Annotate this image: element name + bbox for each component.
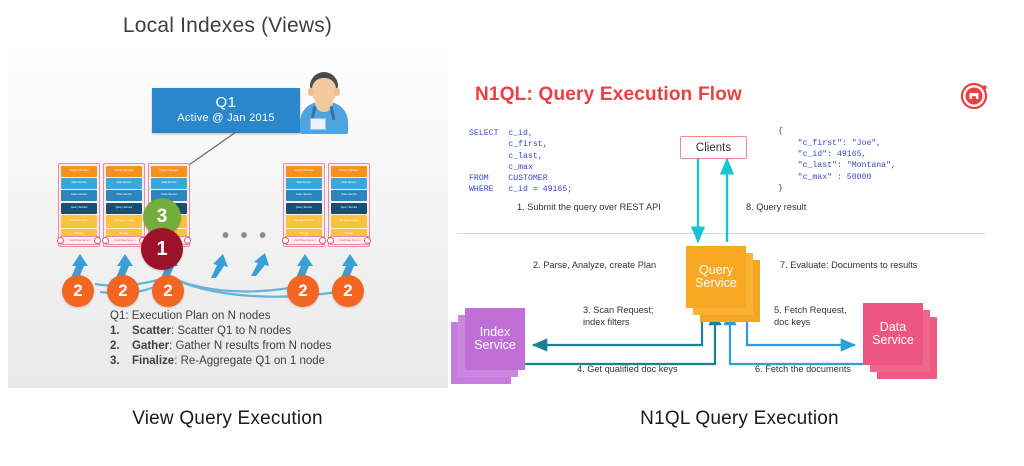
user-avatar-icon [296, 70, 352, 134]
legend-text: : Re-Aggregate Q1 on 1 node [174, 355, 325, 367]
legend-text: : Scatter Q1 to N nodes [171, 325, 291, 337]
legend-item: 1. Scatter: Scatter Q1 to N nodes [110, 324, 440, 339]
node-layer-cluster-manager: Cluster Manager [151, 166, 187, 177]
node-layer-cluster-manager: Cluster Manager [331, 166, 367, 177]
legend-term: Gather [132, 340, 169, 352]
legend-term: Scatter [132, 325, 171, 337]
index-service-box: Index Service [465, 308, 525, 370]
node-layer-cluster-manager: Cluster Manager [106, 166, 142, 177]
step-label-5: 5. Fetch Request, doc keys [774, 304, 847, 328]
n1ql-query-execution-panel: N1QL: Query Execution Flow SELECT c_id, … [455, 58, 1015, 398]
legend-number: 2. [110, 339, 132, 354]
legend-term: Finalize [132, 355, 174, 367]
query-service-label: Query Service [695, 264, 737, 290]
couchbase-logo-icon [960, 80, 990, 110]
n1ql-panel-title: N1QL: Query Execution Flow [475, 84, 742, 106]
q1-query-box: Q1 Active @ Jan 2015 [152, 88, 300, 133]
badge-gather: 2 [62, 275, 94, 307]
legend-text: : Gather N results from N nodes [169, 340, 331, 352]
step-label-7: 7. Evaluate: Documents to results [780, 259, 917, 271]
clients-label: Clients [696, 142, 731, 154]
section-divider [457, 233, 985, 234]
avatar-ear-left [308, 88, 314, 96]
data-service-label: Data Service [872, 321, 914, 347]
sql-query-code: SELECT c_id, c_first, c_last, c_max FROM… [469, 128, 572, 195]
avatar-id-badge [310, 118, 326, 130]
node-layer-cluster-manager: Cluster Manager [286, 166, 322, 177]
query-service-front: Query Service [686, 246, 746, 308]
execution-plan-legend: Q1: Execution Plan on N nodes 1. Scatter… [110, 310, 440, 369]
node-layer-cluster-manager: Cluster Manager [61, 166, 97, 177]
view-query-execution-panel: Local Indexes (Views) Q1 Active @ Jan 20… [0, 0, 455, 395]
legend-item: 2. Gather: Gather N results from N nodes [110, 339, 440, 354]
legend-number: 3. [110, 354, 132, 369]
badge-gather: 2 [107, 275, 139, 307]
step-label-2: 2. Parse, Analyze, create Plan [533, 259, 656, 271]
q1-label: Q1 [152, 94, 300, 111]
right-caption: N1QL Query Execution [455, 408, 1024, 430]
badge-gather: 2 [287, 275, 319, 307]
badge-gather: 2 [332, 275, 364, 307]
legend-item: 3. Finalize: Re-Aggregate Q1 on 1 node [110, 354, 440, 369]
step-label-6: 6. Fetch the documents [755, 363, 851, 375]
step-label-4: 4. Get qualified doc keys [577, 363, 678, 375]
legend-heading: Q1: Execution Plan on N nodes [110, 310, 440, 322]
clients-box[interactable]: Clients [680, 136, 747, 159]
index-service-label: Index Service [474, 326, 516, 352]
left-caption: View Query Execution [0, 408, 455, 430]
left-panel-title: Local Indexes (Views) [0, 14, 455, 38]
q1-status-label: Active @ Jan 2015 [152, 111, 300, 125]
json-result-code: { "c_first": "Joe", "c_id": 49165, "c_la… [778, 126, 896, 194]
step-label-8: 8. Query result [746, 201, 806, 213]
step-label-3: 3. Scan Request; index filters [583, 304, 653, 328]
avatar-head [312, 78, 336, 104]
slide-root: Local Indexes (Views) Q1 Active @ Jan 20… [0, 0, 1024, 466]
avatar-ear-right [334, 88, 340, 96]
index-service-front: Index Service [465, 308, 525, 370]
query-service-box: Query Service [686, 246, 746, 308]
badge-gather: 2 [152, 275, 184, 307]
step-label-1: 1. Submit the query over REST API [517, 201, 661, 213]
legend-number: 1. [110, 324, 132, 339]
data-service-box: Data Service [863, 303, 923, 365]
badge-scatter: 1 [141, 228, 183, 270]
data-service-front: Data Service [863, 303, 923, 365]
